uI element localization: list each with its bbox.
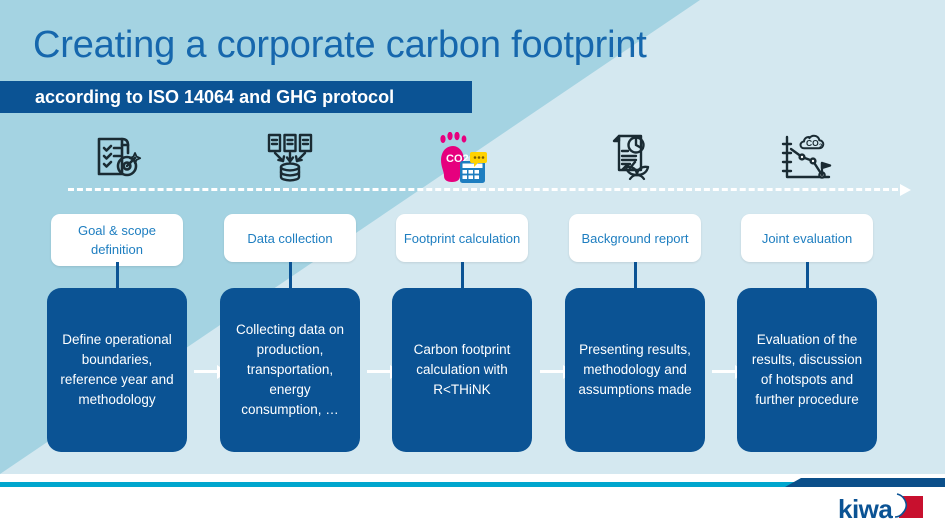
timeline-dashed-line xyxy=(68,188,898,191)
process-step-body: Carbon footprint calculation with R<THiN… xyxy=(392,288,532,452)
process-step-body: Evaluation of the results, discussion of… xyxy=(737,288,877,452)
documents-database-icon xyxy=(220,128,360,188)
process-step-body: Presenting results, methodology and assu… xyxy=(565,288,705,452)
step-connector-line xyxy=(806,262,809,290)
process-step-1: Goal & scope definition Define operation… xyxy=(47,128,187,188)
subtitle-banner: according to ISO 14064 and GHG protocol xyxy=(0,81,472,113)
co2-footprint-calculator-icon: CO2 xyxy=(392,128,532,188)
slide: Creating a corporate carbon footprint ac… xyxy=(0,0,945,531)
kiwa-flag-icon xyxy=(895,490,925,529)
process-step-body: Collecting data on production, transport… xyxy=(220,288,360,452)
process-step-label: Goal & scope definition xyxy=(51,214,183,266)
step-connector-line xyxy=(634,262,637,290)
process-step-label: Joint evaluation xyxy=(741,214,873,262)
step-connector-line xyxy=(116,262,119,290)
process-step-label: Footprint calculation xyxy=(396,214,528,262)
svg-text:CO: CO xyxy=(806,138,819,148)
step-connector-line xyxy=(461,262,464,290)
process-step-label: Background report xyxy=(569,214,701,262)
report-leaf-icon xyxy=(565,128,705,188)
process-step-4: Background report Presenting results, me… xyxy=(565,128,705,188)
clipboard-target-icon xyxy=(47,128,187,188)
kiwa-logo-text: kiwa xyxy=(838,494,892,525)
co2-reduction-chart-icon: CO 2 xyxy=(737,128,877,188)
process-timeline xyxy=(68,188,911,191)
step-connector-line xyxy=(289,262,292,290)
kiwa-logo: kiwa xyxy=(838,494,930,524)
page-title: Creating a corporate carbon footprint xyxy=(33,21,647,69)
footer-navy-swoosh xyxy=(785,478,945,487)
process-step-body: Define operational boundaries, reference… xyxy=(47,288,187,452)
process-step-3: CO2 xyxy=(392,128,532,188)
process-step-5: CO 2 Joint evaluation Evaluation of the … xyxy=(737,128,877,188)
process-step-2: Data collection Collecting data on produ… xyxy=(220,128,360,188)
subtitle-text: according to ISO 14064 and GHG protocol xyxy=(0,87,394,108)
process-step-label: Data collection xyxy=(224,214,356,262)
arrow-right-icon xyxy=(900,184,911,196)
